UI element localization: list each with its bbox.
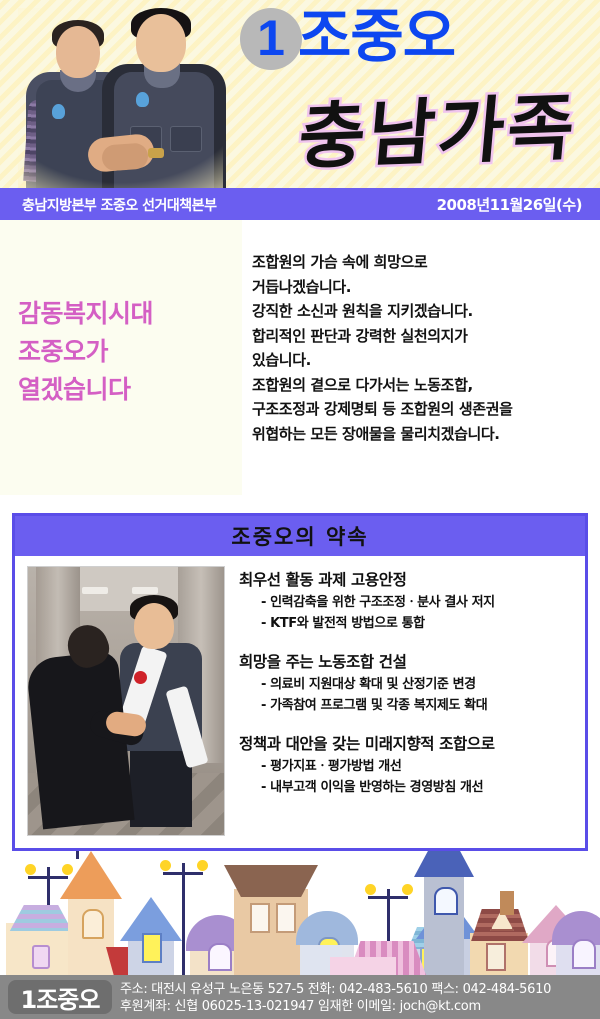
- candidates-handshake-photo: [18, 8, 223, 188]
- house-window-3: [142, 933, 162, 963]
- town-illustration: [0, 851, 600, 975]
- street-lamp-post-2: [182, 863, 185, 975]
- promise-box: 조중오의 약속 최우선 활동 과제 고용안정 - 인력감축을 위한: [12, 513, 588, 851]
- pledge-body-text: 조합원의 가슴 속에 희망으로 거듭나겠습니다. 강직한 소신과 원칙을 지키겠…: [252, 250, 590, 446]
- promise-group: 최우선 활동 과제 고용안정 - 인력감축을 위한 구조조정ㆍ분사 결사 저지 …: [239, 568, 575, 634]
- slogan-line-2: 조중오가: [18, 333, 233, 371]
- footer-contact-info: 주소: 대전시 유성구 노은동 527-5 전화: 042-483-5610 팩…: [120, 981, 594, 1015]
- street-lamp-arm-2: [163, 872, 203, 875]
- house-window-13: [572, 939, 596, 969]
- slogan-panel: 감동복지시대 조중오가 열겠습니다: [0, 220, 242, 495]
- candidate-legs: [130, 747, 192, 827]
- promise-item: - 의료비 지원대상 확대 및 산정기준 변경: [239, 674, 575, 695]
- promise-item: - 가족참여 프로그램 및 각종 복지제도 확대: [239, 695, 575, 716]
- promise-group: 정책과 대안을 갖는 미래지향적 조합으로 - 평가지표ㆍ평가방법 개선 - 내…: [239, 732, 575, 798]
- street-lamp-bulb-2b: [197, 860, 208, 871]
- body-line: 강직한 소신과 원칙을 지키겠습니다.: [252, 299, 590, 324]
- body-line: 합리적인 판단과 강력한 실천의지가: [252, 324, 590, 349]
- publication-date: 2008년11월26일(수): [437, 194, 582, 215]
- street-lamp-arm-1: [28, 876, 68, 879]
- blue-tower-roof: [414, 851, 474, 877]
- tower-roof: [60, 851, 122, 899]
- campaign-poster: 1 조중오 충남가족 충남지방본부 조중오 선거대책본부 2008년11월26일…: [0, 0, 600, 1019]
- campaign-slogan: 감동복지시대 조중오가 열겠습니다: [18, 295, 233, 409]
- photo-vignette: [18, 8, 223, 188]
- promise-item: - 평가지표ㆍ평가방법 개선: [239, 756, 575, 777]
- footer-address-line: 주소: 대전시 유성구 노은동 527-5 전화: 042-483-5610 팩…: [120, 981, 594, 998]
- tower-window: [82, 909, 104, 939]
- street-lamp-bulb-1b: [62, 864, 73, 875]
- awning-base: [330, 957, 396, 975]
- house-window-4: [208, 943, 232, 971]
- promise-group: 희망을 주는 노동조합 건설 - 의료비 지원대상 확대 및 산정기준 변경 -…: [239, 650, 575, 716]
- ceiling-light-1: [82, 587, 108, 594]
- brush-calligraphy-title: 충남가족: [283, 79, 593, 185]
- body-line: 조합원의 가슴 속에 희망으로: [252, 250, 590, 275]
- ceiling-light-2: [132, 587, 158, 594]
- sash-number-badge: [134, 671, 147, 684]
- house-window-5a: [250, 903, 270, 933]
- street-lamp-bulb-1a: [25, 864, 36, 875]
- body-line: 위협하는 모든 장애물을 물리치겠습니다.: [252, 422, 590, 447]
- campaign-greeting-photo: [27, 566, 225, 836]
- organization-name: 충남지방본부 조중오 선거대책본부: [22, 195, 216, 215]
- blue-tower-window: [434, 887, 458, 915]
- candidate-head: [134, 603, 174, 649]
- body-line: 조합원의 곁으로 다가서는 노동조합,: [252, 373, 590, 398]
- promise-item: - 인력감축을 위한 구조조정ㆍ분사 결사 저지: [239, 592, 575, 613]
- organization-bar: 충남지방본부 조중오 선거대책본부 2008년11월26일(수): [0, 188, 600, 220]
- slogan-line-1: 감동복지시대: [18, 295, 233, 333]
- promise-item: - 내부고객 이익을 반영하는 경영방침 개선: [239, 777, 575, 798]
- footer-account-line: 후원계좌: 신협 06025-13-021947 임재한 이메일: joch@k…: [120, 998, 594, 1015]
- slogan-line-3: 열겠습니다: [18, 371, 233, 409]
- street-lamp-arm-3: [368, 896, 408, 899]
- blue-tower-body: [424, 865, 464, 975]
- candidate-name-heading: 조중오: [298, 4, 455, 68]
- promise-item: - KTF와 발전적 방법으로 통합: [239, 613, 575, 634]
- chimney: [500, 891, 514, 915]
- house-window-1: [32, 945, 50, 969]
- house-window-5b: [276, 903, 296, 933]
- promise-group-title: 희망을 주는 노동조합 건설: [239, 650, 575, 674]
- church-cross-vertical: [76, 851, 79, 859]
- street-lamp-bulb-3a: [365, 884, 376, 895]
- promise-box-heading: 조중오의 약속: [15, 516, 585, 556]
- body-line: 거듭나겠습니다.: [252, 275, 590, 300]
- middle-section: 감동복지시대 조중오가 열겠습니다 조합원의 가슴 속에 희망으로 거듭나겠습니…: [0, 220, 600, 513]
- body-line: 있습니다.: [252, 348, 590, 373]
- poster-footer: 1조중오 주소: 대전시 유성구 노은동 527-5 전화: 042-483-5…: [0, 975, 600, 1019]
- promise-group-title: 최우선 활동 과제 고용안정: [239, 568, 575, 592]
- footer-logo: 1조중오: [8, 980, 112, 1014]
- poster-header: 1 조중오 충남가족: [0, 0, 600, 188]
- street-lamp-bulb-3b: [402, 884, 413, 895]
- candidate-number-badge: 1: [240, 8, 302, 70]
- promise-group-title: 정책과 대안을 갖는 미래지향적 조합으로: [239, 732, 575, 756]
- body-line: 구조조정과 강제명퇴 등 조합원의 생존권을: [252, 397, 590, 422]
- promise-list: 최우선 활동 과제 고용안정 - 인력감축을 위한 구조조정ㆍ분사 결사 저지 …: [239, 568, 575, 814]
- candidate-number-text: 1: [257, 13, 285, 63]
- street-lamp-bulb-2a: [160, 860, 171, 871]
- house-window-11: [486, 943, 506, 971]
